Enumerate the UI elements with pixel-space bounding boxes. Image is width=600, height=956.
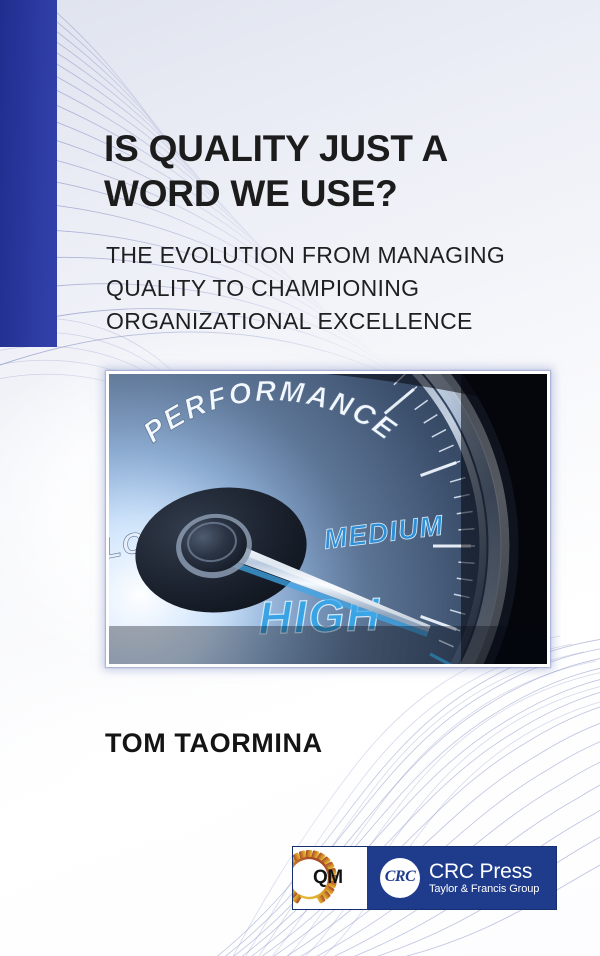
spine-bar	[0, 0, 57, 347]
publisher-band: QM CRC CRC Press Taylor & Francis Group	[292, 846, 557, 910]
crc-press-group: Taylor & Francis Group	[429, 884, 539, 896]
qm-logo: QM	[293, 847, 367, 909]
title-line-1: IS QUALITY JUST A	[104, 128, 448, 169]
book-subtitle: THE EVOLUTION FROM MANAGING QUALITY TO C…	[106, 239, 566, 338]
crc-wordmark: CRC Press Taylor & Francis Group	[429, 861, 539, 896]
performance-gauge-image: PERFORMANCE LOW MEDIUM HIGH	[109, 374, 547, 664]
crc-press-logo: CRC CRC Press Taylor & Francis Group	[367, 847, 556, 909]
book-cover: IS QUALITY JUST A WORD WE USE? THE EVOLU…	[0, 0, 600, 956]
subtitle-line-3: ORGANIZATIONAL EXCELLENCE	[106, 305, 566, 338]
qm-logo-text: QM	[313, 867, 343, 889]
book-title: IS QUALITY JUST A WORD WE USE?	[104, 126, 574, 216]
crc-press-name: CRC Press	[429, 861, 539, 883]
subtitle-line-1: THE EVOLUTION FROM MANAGING	[106, 239, 566, 272]
subtitle-line-2: QUALITY TO CHAMPIONING	[106, 272, 566, 305]
crc-roundel-icon: CRC	[380, 858, 420, 898]
cover-photo: PERFORMANCE LOW MEDIUM HIGH	[106, 371, 550, 667]
author-name: TOM TAORMINA	[105, 728, 323, 759]
title-line-2: WORD WE USE?	[104, 171, 574, 216]
crc-roundel-text: CRC	[385, 868, 416, 886]
